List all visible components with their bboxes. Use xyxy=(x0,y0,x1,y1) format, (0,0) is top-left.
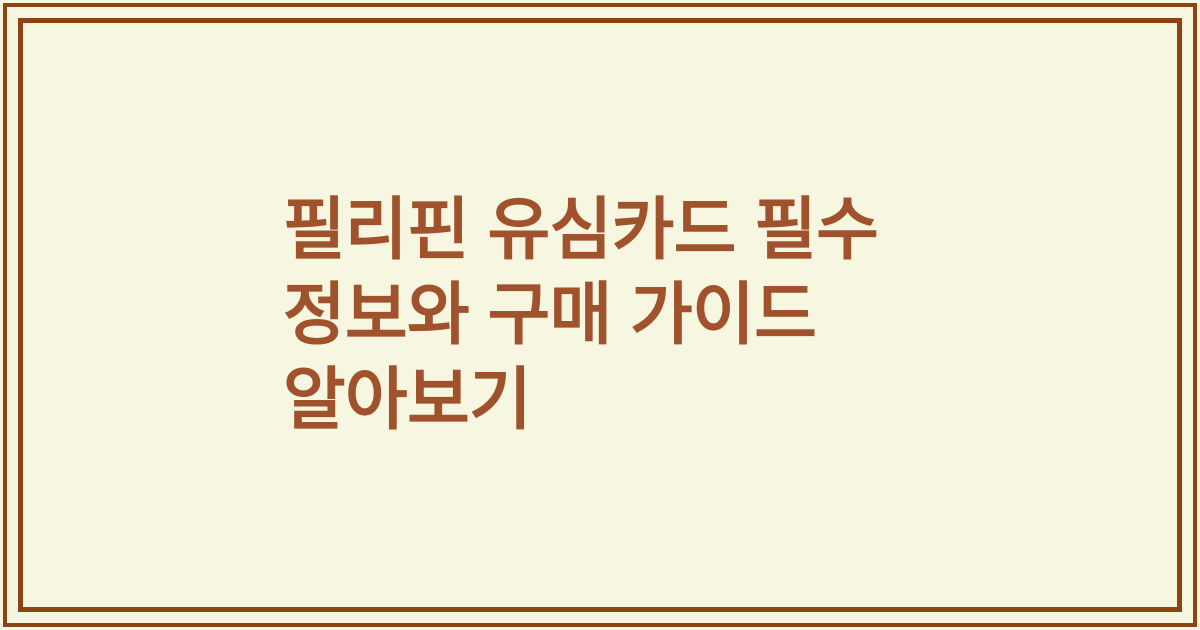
title-block: 필리핀 유심카드 필수 정보와 구매 가이드 알아보기 xyxy=(283,0,983,630)
thumbnail-card: 필리핀 유심카드 필수 정보와 구매 가이드 알아보기 xyxy=(0,0,1200,630)
page-title: 필리핀 유심카드 필수 정보와 구매 가이드 알아보기 xyxy=(283,188,878,443)
